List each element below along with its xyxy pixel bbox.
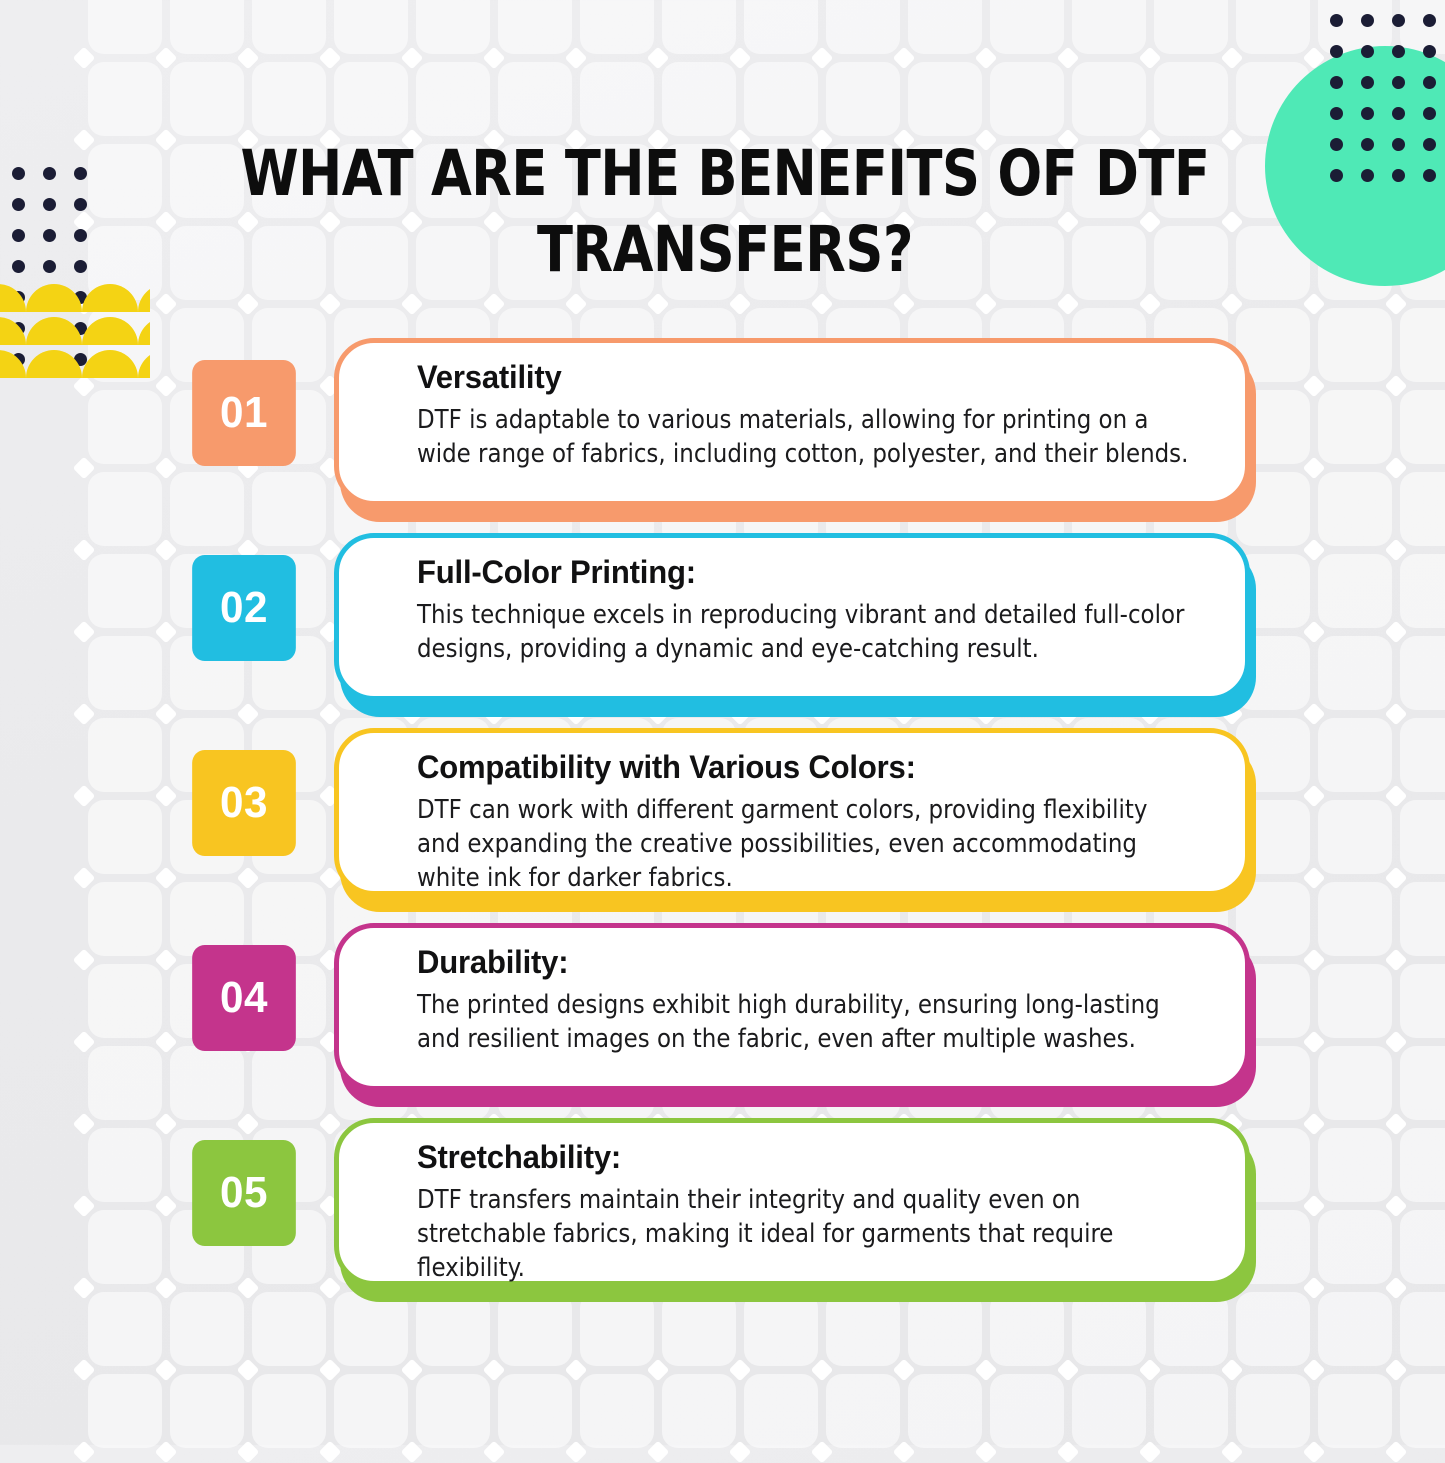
benefit-card-wrapper: Durability:The printed designs exhibit h… xyxy=(334,923,1250,1091)
benefit-row[interactable]: 02Full-Color Printing:This technique exc… xyxy=(0,533,1445,728)
grid-node xyxy=(647,1441,670,1463)
decorative-dot xyxy=(1423,138,1436,151)
grid-node xyxy=(1139,1441,1162,1463)
grid-tile xyxy=(744,1374,818,1448)
grid-node xyxy=(1385,293,1408,316)
grid-node xyxy=(73,129,96,152)
benefit-heading: Full-Color Printing: xyxy=(417,552,1185,592)
grid-node xyxy=(1221,293,1244,316)
decorative-dot xyxy=(1330,76,1343,89)
grid-node xyxy=(1385,1441,1408,1463)
decorative-dot xyxy=(74,229,87,242)
benefit-body: DTF can work with different garment colo… xyxy=(417,793,1193,895)
grid-node xyxy=(155,1359,178,1382)
grid-tile xyxy=(908,62,982,136)
benefit-card-wrapper: Compatibility with Various Colors:DTF ca… xyxy=(334,728,1250,896)
grid-node xyxy=(1057,47,1080,70)
grid-node xyxy=(893,47,916,70)
grid-tile xyxy=(1400,0,1445,54)
grid-node xyxy=(1057,293,1080,316)
grid-node xyxy=(1221,1359,1244,1382)
grid-node xyxy=(319,293,342,316)
decorative-dot xyxy=(1423,76,1436,89)
grid-tile xyxy=(416,1374,490,1448)
grid-tile xyxy=(252,0,326,54)
grid-tile xyxy=(580,1374,654,1448)
grid-tile xyxy=(498,0,572,54)
benefit-number-badge: 04 xyxy=(192,945,296,1051)
grid-tile xyxy=(580,0,654,54)
grid-tile xyxy=(1236,1374,1310,1448)
grid-node xyxy=(1057,1441,1080,1463)
grid-node xyxy=(155,1441,178,1463)
grid-tile xyxy=(1236,0,1310,54)
grid-node xyxy=(483,1441,506,1463)
grid-node xyxy=(401,293,424,316)
grid-tile xyxy=(88,0,162,54)
decorative-dot xyxy=(1330,14,1343,27)
grid-node xyxy=(647,293,670,316)
grid-tile xyxy=(170,62,244,136)
grid-tile xyxy=(662,1374,736,1448)
grid-tile xyxy=(88,1374,162,1448)
grid-tile xyxy=(990,0,1064,54)
grid-tile xyxy=(252,1374,326,1448)
grid-tile xyxy=(1400,1374,1445,1448)
grid-node xyxy=(237,47,260,70)
decorative-dot xyxy=(1330,138,1343,151)
grid-node xyxy=(73,1441,96,1463)
decorative-dot xyxy=(12,229,25,242)
grid-node xyxy=(565,47,588,70)
grid-node xyxy=(237,1359,260,1382)
grid-node xyxy=(401,1359,424,1382)
grid-tile xyxy=(170,1374,244,1448)
grid-node xyxy=(729,293,752,316)
decorative-dot xyxy=(1392,45,1405,58)
grid-node xyxy=(1385,1359,1408,1382)
decorative-dot xyxy=(1392,169,1405,182)
decorative-dot xyxy=(12,198,25,211)
grid-tile xyxy=(1154,62,1228,136)
grid-tile xyxy=(744,62,818,136)
grid-node xyxy=(565,1441,588,1463)
grid-tile xyxy=(908,0,982,54)
teal-circle-decoration xyxy=(1265,46,1445,286)
benefit-number-badge: 02 xyxy=(192,555,296,661)
decorative-dot xyxy=(1361,169,1374,182)
decorative-semicircle xyxy=(0,284,26,312)
grid-node xyxy=(893,1359,916,1382)
decorative-dot xyxy=(74,260,87,273)
grid-node xyxy=(811,1441,834,1463)
decorative-dot xyxy=(1330,107,1343,120)
grid-tile xyxy=(580,62,654,136)
grid-node xyxy=(811,1359,834,1382)
grid-node xyxy=(155,293,178,316)
benefit-row[interactable]: 01VersatilityDTF is adaptable to various… xyxy=(0,338,1445,533)
grid-node xyxy=(1303,1359,1326,1382)
grid-node xyxy=(975,1441,998,1463)
grid-tile xyxy=(990,1374,1064,1448)
benefit-body: DTF is adaptable to various materials, a… xyxy=(417,403,1193,471)
decorative-semicircle xyxy=(82,284,138,312)
grid-node xyxy=(811,47,834,70)
decorative-dot xyxy=(1330,169,1343,182)
benefit-heading: Versatility xyxy=(417,357,1185,397)
grid-tile xyxy=(334,62,408,136)
benefit-number: 03 xyxy=(220,778,268,828)
decorative-dot xyxy=(43,260,56,273)
grid-node xyxy=(319,1359,342,1382)
benefit-row[interactable]: 03Compatibility with Various Colors:DTF … xyxy=(0,728,1445,923)
decorative-dot xyxy=(1392,14,1405,27)
benefit-number: 05 xyxy=(220,1168,268,1218)
page-title: WHAT ARE THE BENEFITS OF DTF TRANSFERS? xyxy=(214,136,1237,288)
grid-node xyxy=(975,293,998,316)
grid-tile xyxy=(826,1374,900,1448)
grid-tile xyxy=(662,62,736,136)
grid-node xyxy=(1221,1441,1244,1463)
benefit-card[interactable]: Durability:The printed designs exhibit h… xyxy=(334,923,1250,1091)
grid-tile xyxy=(1072,0,1146,54)
grid-node xyxy=(319,47,342,70)
grid-node xyxy=(729,1441,752,1463)
decorative-dot xyxy=(1423,14,1436,27)
grid-tile xyxy=(826,0,900,54)
decorative-semicircle xyxy=(138,284,150,312)
benefit-number: 04 xyxy=(220,973,268,1023)
grid-tile xyxy=(88,62,162,136)
decorative-dot xyxy=(1361,45,1374,58)
benefit-card-wrapper: Full-Color Printing:This technique excel… xyxy=(334,533,1250,701)
grid-node xyxy=(73,47,96,70)
decorative-dot xyxy=(1392,107,1405,120)
benefit-heading: Durability: xyxy=(417,942,1185,982)
decorative-dot xyxy=(1423,45,1436,58)
benefit-number: 01 xyxy=(220,388,268,438)
decorative-dot xyxy=(43,198,56,211)
grid-node xyxy=(893,1441,916,1463)
grid-node xyxy=(647,47,670,70)
decorative-dot xyxy=(1392,138,1405,151)
grid-node xyxy=(155,129,178,152)
grid-node xyxy=(1221,47,1244,70)
grid-node xyxy=(975,47,998,70)
grid-node xyxy=(155,211,178,234)
grid-node xyxy=(1139,1359,1162,1382)
decorative-dot xyxy=(12,167,25,180)
grid-node xyxy=(565,1359,588,1382)
grid-tile xyxy=(826,62,900,136)
benefit-body: DTF transfers maintain their integrity a… xyxy=(417,1183,1193,1285)
grid-tile xyxy=(990,62,1064,136)
grid-node xyxy=(483,293,506,316)
grid-node xyxy=(729,47,752,70)
grid-node xyxy=(483,1359,506,1382)
benefit-row[interactable]: 05Stretchability:DTF transfers maintain … xyxy=(0,1118,1445,1313)
grid-tile xyxy=(662,0,736,54)
benefit-card[interactable]: Compatibility with Various Colors:DTF ca… xyxy=(334,728,1250,896)
grid-tile xyxy=(498,1374,572,1448)
benefit-card-wrapper: Stretchability:DTF transfers maintain th… xyxy=(334,1118,1250,1286)
grid-tile xyxy=(416,0,490,54)
decorative-dot xyxy=(43,229,56,242)
grid-node xyxy=(811,293,834,316)
grid-node xyxy=(237,1441,260,1463)
grid-tile xyxy=(1154,0,1228,54)
benefit-number-badge: 01 xyxy=(192,360,296,466)
decorative-dot xyxy=(43,167,56,180)
benefit-body: This technique excels in reproducing vib… xyxy=(417,598,1193,666)
grid-node xyxy=(155,47,178,70)
grid-node xyxy=(483,47,506,70)
benefit-number: 02 xyxy=(220,583,268,633)
benefit-card[interactable]: Full-Color Printing:This technique excel… xyxy=(334,533,1250,701)
benefit-card[interactable]: VersatilityDTF is adaptable to various m… xyxy=(334,338,1250,506)
grid-node xyxy=(565,293,588,316)
grid-tile xyxy=(1072,62,1146,136)
decorative-semicircle xyxy=(26,284,82,312)
decorative-dot xyxy=(1361,107,1374,120)
benefit-card[interactable]: Stretchability:DTF transfers maintain th… xyxy=(334,1118,1250,1286)
benefit-row[interactable]: 04Durability:The printed designs exhibit… xyxy=(0,923,1445,1118)
grid-node xyxy=(1139,293,1162,316)
grid-tile xyxy=(252,62,326,136)
grid-node xyxy=(237,293,260,316)
grid-tile xyxy=(334,1374,408,1448)
grid-tile xyxy=(170,0,244,54)
grid-node xyxy=(1057,1359,1080,1382)
benefit-number-badge: 05 xyxy=(192,1140,296,1246)
benefit-card-wrapper: VersatilityDTF is adaptable to various m… xyxy=(334,338,1250,506)
benefit-body: The printed designs exhibit high durabil… xyxy=(417,988,1193,1056)
decorative-dot xyxy=(1361,76,1374,89)
grid-tile xyxy=(1318,1374,1392,1448)
grid-node xyxy=(1303,293,1326,316)
grid-node xyxy=(1139,47,1162,70)
grid-node xyxy=(401,47,424,70)
benefit-number-badge: 03 xyxy=(192,750,296,856)
benefit-heading: Stretchability: xyxy=(417,1137,1185,1177)
decorative-dot xyxy=(1423,107,1436,120)
grid-node xyxy=(729,1359,752,1382)
grid-tile xyxy=(498,62,572,136)
grid-tile xyxy=(1072,1374,1146,1448)
decorative-dot xyxy=(74,167,87,180)
grid-node xyxy=(1303,1441,1326,1463)
decorative-dot xyxy=(1392,76,1405,89)
grid-node xyxy=(401,1441,424,1463)
decorative-dot xyxy=(1361,14,1374,27)
decorative-dot xyxy=(1361,138,1374,151)
grid-tile xyxy=(744,0,818,54)
grid-tile xyxy=(334,0,408,54)
grid-tile xyxy=(416,62,490,136)
decorative-dot xyxy=(1330,45,1343,58)
decorative-dot xyxy=(1423,169,1436,182)
decorative-dot xyxy=(12,260,25,273)
grid-tile xyxy=(88,144,162,218)
benefits-list: 01VersatilityDTF is adaptable to various… xyxy=(0,338,1445,1313)
grid-node xyxy=(73,1359,96,1382)
benefit-heading: Compatibility with Various Colors: xyxy=(417,747,1185,787)
grid-node xyxy=(975,1359,998,1382)
grid-tile xyxy=(1154,1374,1228,1448)
decorative-dot xyxy=(74,198,87,211)
grid-node xyxy=(647,1359,670,1382)
grid-tile xyxy=(908,1374,982,1448)
grid-node xyxy=(319,1441,342,1463)
grid-node xyxy=(893,293,916,316)
